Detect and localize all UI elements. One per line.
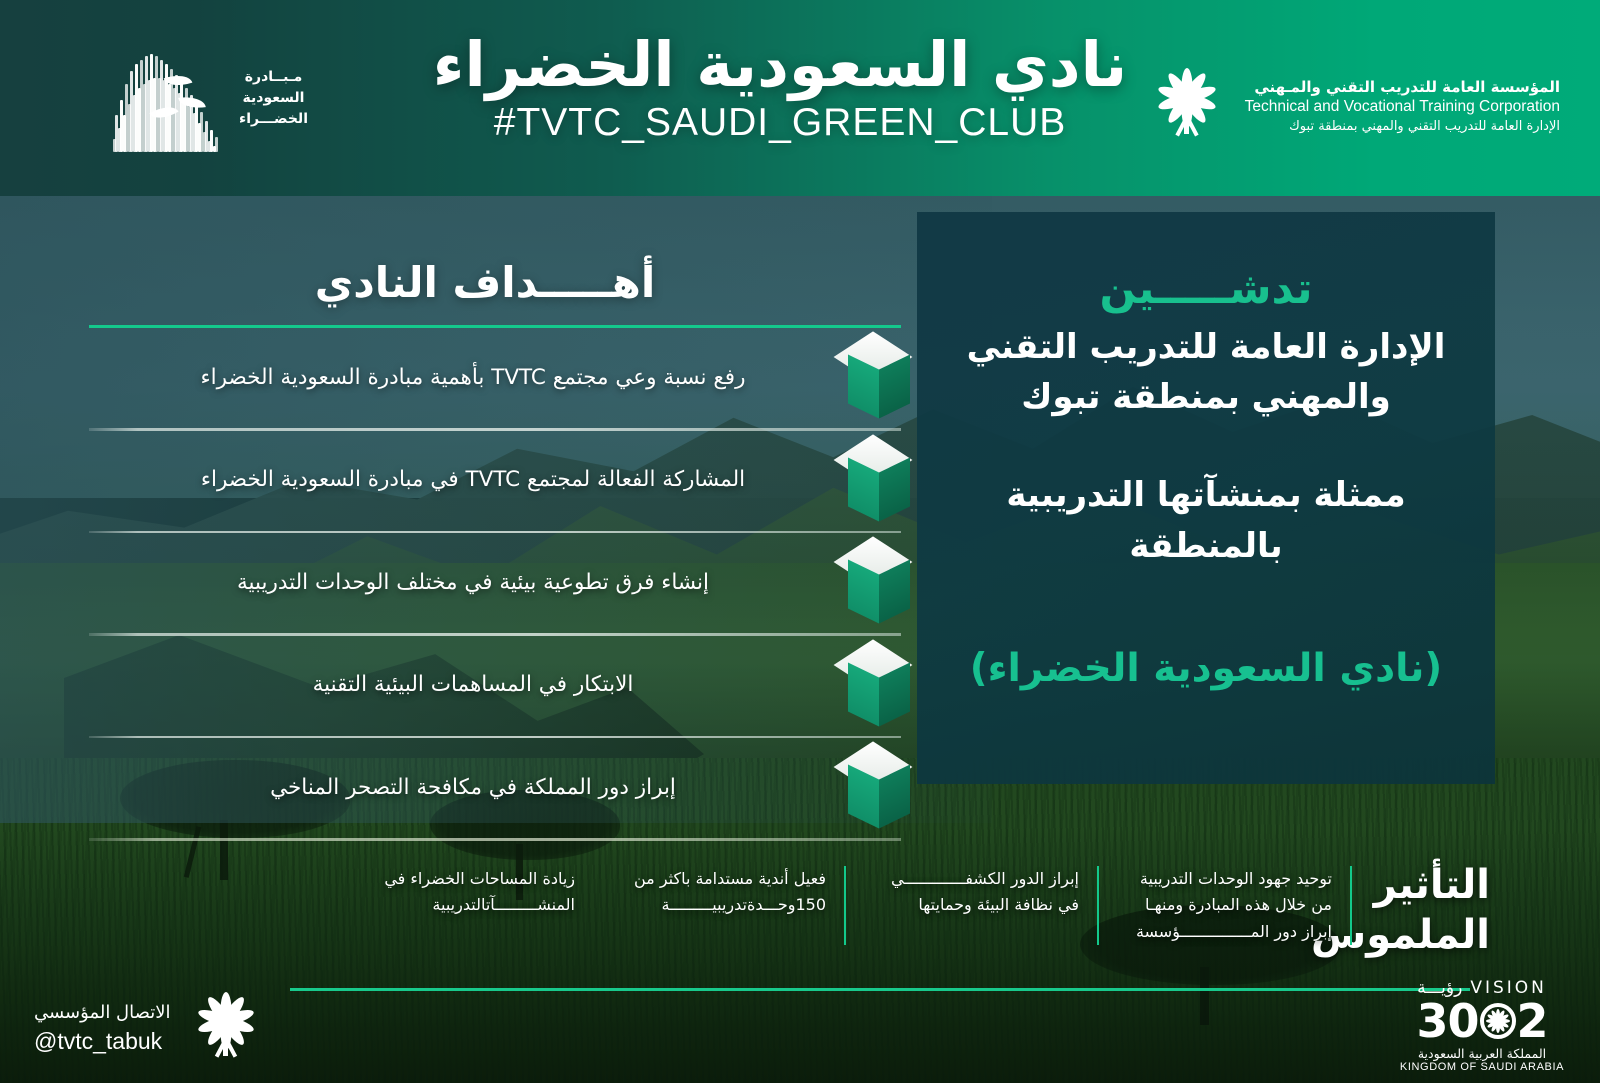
tvtc-palm-flower-icon <box>187 983 265 1075</box>
panel-line-2: والمهني بمنطقة تبوك <box>951 373 1461 422</box>
goal-item-label: الابتكار في المساهمات البيئية التقنية <box>70 670 836 700</box>
social-handle[interactable]: @tvtc_tabuk <box>34 1026 171 1058</box>
initiative-logo-line-3: الخضـــراء <box>239 109 308 130</box>
goal-item: رفع نسبة وعي مجتمع TVTC بأهمية مبادرة ال… <box>70 328 920 428</box>
hashtag: #TVTC_SAUDI_GREEN_CLUB <box>380 101 1180 145</box>
impact-column: زيادة المساحات الخضراء في المنشـــــــــ… <box>342 866 593 945</box>
panel-kicker: تدشـــــين <box>951 266 1461 313</box>
impact-line: المنشـــــــــآتالتدريبية <box>360 892 575 918</box>
corporate-contact-block: الاتصال المؤسسي @tvtc_tabuk <box>34 983 265 1075</box>
impact-column: إبراز الدور الكشفـــــــــــــي في نظافة… <box>846 866 1099 945</box>
impact-column: فعيل أندية مستدامة باكثر من 150وحـــدةتد… <box>593 866 846 945</box>
goal-item: المشاركة الفعالة لمجتمع TVTC في مبادرة ا… <box>70 431 920 531</box>
impact-line: إبراز الدور الكشفـــــــــــــي <box>864 866 1079 892</box>
tvtc-logo-text: المؤسسة العامة للتدريب التقني والمـهني T… <box>1245 77 1560 136</box>
page-footer: الاتصال المؤسسي @tvtc_tabuk VISION رؤيــ… <box>0 963 1600 1083</box>
cube-icon <box>844 539 916 627</box>
impact-column: توحيد جهود الوحدات التدريبية من خلال هذه… <box>1099 866 1352 945</box>
goal-item: الابتكار في المساهمات البيئية التقنية <box>70 636 920 736</box>
impact-line: إبراز دور المـــــــــــــــؤسسة <box>1117 919 1332 945</box>
vision-2030-logo: VISION رؤيـــة 2 30 المملكة العربية السع… <box>1394 978 1570 1073</box>
cube-icon <box>844 437 916 525</box>
cube-icon <box>844 744 916 832</box>
header-title-block: نادي السعودية الخضراء #TVTC_SAUDI_GREEN_… <box>380 32 1180 145</box>
vision-emblem-icon <box>1480 1003 1516 1039</box>
goal-item-label: رفع نسبة وعي مجتمع TVTC بأهمية مبادرة ال… <box>70 363 836 393</box>
goals-section-title: أهـــــداف النادي <box>70 258 920 307</box>
goal-item: إنشاء فرق تطوعية بيئية في مختلف الوحدات … <box>70 533 920 633</box>
saudi-map-barcode-icon <box>113 44 229 152</box>
footer-divider <box>290 988 1470 991</box>
impact-line: توحيد جهود الوحدات التدريبية <box>1117 866 1332 892</box>
impact-line: في نظافة البيئة وحمايتها <box>864 892 1079 918</box>
launch-announcement-panel: تدشـــــين الإدارة العامة للتدريب التقني… <box>917 212 1495 784</box>
tvtc-branch-arabic: الإدارة العامة للتدريب التقني والمهني بم… <box>1245 118 1560 136</box>
tvtc-name-arabic: المؤسسة العامة للتدريب التقني والمـهني <box>1245 77 1560 97</box>
tvtc-logo-block: المؤسسة العامة للتدريب التقني والمـهني T… <box>1147 58 1560 154</box>
vision-year-left: 2 <box>1517 998 1548 1044</box>
kingdom-label-ar: المملكة العربية السعودية <box>1394 1046 1570 1061</box>
panel-club-name: (نادي السعودية الخضراء) <box>951 644 1461 695</box>
impact-columns: توحيد جهود الوحدات التدريبية من خلال هذه… <box>342 866 1352 945</box>
green-saudi-initiative-logo: مـبــادرة السعودية الخضـــراء <box>58 38 308 158</box>
goal-item-label: المشاركة الفعالة لمجتمع TVTC في مبادرة ا… <box>70 465 836 495</box>
impact-line: 150وحـــدةتدريبيـــــــــة <box>611 892 826 918</box>
contact-label: الاتصال المؤسسي <box>34 1001 171 1026</box>
page-header: مـبــادرة السعودية الخضـــراء نادي السعو… <box>0 0 1600 196</box>
vision-year-right: 30 <box>1416 998 1478 1044</box>
goal-item-label: إنشاء فرق تطوعية بيئية في مختلف الوحدات … <box>70 568 836 598</box>
page-title: نادي السعودية الخضراء <box>380 32 1180 97</box>
goal-item: إبراز دور المملكة في مكافحة التصحر المنا… <box>70 738 920 838</box>
cube-icon <box>844 334 916 422</box>
tvtc-palm-flower-icon <box>1147 58 1227 154</box>
contact-text: الاتصال المؤسسي @tvtc_tabuk <box>34 1001 171 1058</box>
goals-bottom-divider <box>89 838 901 841</box>
infographic-poster: مـبــادرة السعودية الخضـــراء نادي السعو… <box>0 0 1600 1083</box>
panel-line-1: الإدارة العامة للتدريب التقني <box>951 323 1461 372</box>
goal-item-label: إبراز دور المملكة في مكافحة التصحر المنا… <box>70 773 836 803</box>
tvtc-name-english: Technical and Vocational Training Corpor… <box>1245 97 1560 118</box>
impact-line: من خلال هذه المبادرة ومنهـا <box>1117 892 1332 918</box>
vision-year: 2 30 <box>1394 998 1570 1044</box>
initiative-logo-line-1: مـبــادرة <box>239 67 308 88</box>
initiative-logo-text: مـبــادرة السعودية الخضـــراء <box>239 67 308 130</box>
kingdom-label-en: KINGDOM OF SAUDI ARABIA <box>1394 1061 1570 1073</box>
panel-line-3: ممثلة بمنشآتها التدريبية بالمنطقة <box>951 470 1461 572</box>
impact-line: زيادة المساحات الخضراء في <box>360 866 575 892</box>
club-goals-section: أهـــــداف النادي رفع نسبة وعي مجتمع TVT… <box>70 258 920 841</box>
impact-line: فعيل أندية مستدامة باكثر من <box>611 866 826 892</box>
initiative-logo-line-2: السعودية <box>239 88 308 109</box>
cube-icon <box>844 642 916 730</box>
